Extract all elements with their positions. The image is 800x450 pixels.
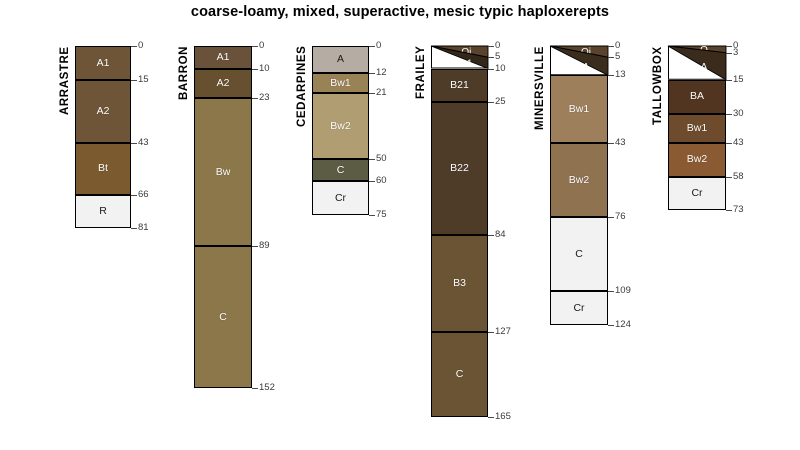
depth-label: 23 <box>259 93 270 103</box>
thin-horizon-wedges: OiA <box>550 46 608 75</box>
thin-horizon-wedges: OA <box>668 46 726 80</box>
depth-tick <box>252 388 258 389</box>
horizon-ba[interactable]: BA <box>668 80 726 114</box>
horizon-label: Bw2 <box>330 121 350 132</box>
thin-horizon-wedges: OiA1 <box>431 46 488 69</box>
depth-tick <box>726 114 732 115</box>
depth-tick <box>608 57 614 58</box>
depth-tick <box>488 332 494 333</box>
horizon-bw1[interactable]: Bw1 <box>668 114 726 143</box>
profile-name-label: TALLOWBOX <box>652 46 664 246</box>
depth-label: 13 <box>615 70 626 80</box>
depth-label: 12 <box>376 68 387 78</box>
depth-tick <box>608 75 614 76</box>
depth-label: 60 <box>376 176 387 186</box>
horizon-label: Bw1 <box>687 123 707 134</box>
horizon-label: C <box>575 249 583 260</box>
horizon-cr[interactable]: Cr <box>312 181 369 215</box>
horizon-label: B21 <box>450 80 469 91</box>
depth-label: 66 <box>138 190 149 200</box>
horizon-label: C <box>337 165 345 176</box>
horizon-label: A2 <box>217 78 230 89</box>
horizon-label: A <box>583 62 590 73</box>
depth-tick <box>608 46 614 47</box>
depth-tick <box>131 46 137 47</box>
horizon-label: Bw2 <box>687 154 707 165</box>
horizon-label: Bw1 <box>330 78 350 89</box>
horizon-a2[interactable]: A2 <box>75 80 131 143</box>
horizon-label: Cr <box>573 303 584 314</box>
depth-label: 30 <box>733 109 744 119</box>
depth-tick <box>369 215 375 216</box>
horizon-bw1[interactable]: Bw1 <box>550 75 608 143</box>
profile-column: B21B22B3COiA1 <box>431 46 488 417</box>
profile-column: BABw1Bw2CrOA <box>668 46 726 210</box>
horizon-label: B3 <box>453 278 466 289</box>
depth-tick <box>131 143 137 144</box>
horizon-label: Bw1 <box>569 104 589 115</box>
depth-label: 165 <box>495 412 511 422</box>
depth-label: 3 <box>733 48 738 58</box>
horizon-a1[interactable]: A1 <box>194 46 252 69</box>
profile-name-label: CEDARPINES <box>296 46 308 241</box>
depth-label: 0 <box>615 41 620 51</box>
horizon-label: Bt <box>98 163 108 174</box>
depth-tick <box>369 46 375 47</box>
depth-label: 73 <box>733 205 744 215</box>
horizon-a2[interactable]: A2 <box>194 69 252 98</box>
depth-tick <box>726 53 732 54</box>
depth-tick <box>131 228 137 229</box>
horizon-label: B22 <box>450 163 469 174</box>
horizon-label: A <box>337 54 344 65</box>
figure-title: coarse-loamy, mixed, superactive, mesic … <box>0 4 800 20</box>
depth-label: 0 <box>495 41 500 51</box>
horizon-bw2[interactable]: Bw2 <box>312 93 369 158</box>
depth-label: 15 <box>733 75 744 85</box>
depth-label: 109 <box>615 286 631 296</box>
depth-tick <box>131 195 137 196</box>
depth-tick <box>726 80 732 81</box>
horizon-bw[interactable]: Bw <box>194 98 252 247</box>
horizon-a[interactable]: A <box>312 46 369 73</box>
depth-tick <box>488 235 494 236</box>
depth-tick <box>488 102 494 103</box>
depth-label: 81 <box>138 223 149 233</box>
horizon-label: BA <box>690 91 704 102</box>
horizon-b22[interactable]: B22 <box>431 102 488 235</box>
horizon-bw2[interactable]: Bw2 <box>550 143 608 217</box>
depth-label: 124 <box>615 320 631 330</box>
depth-label: 43 <box>615 138 626 148</box>
depth-tick <box>369 181 375 182</box>
depth-tick <box>488 57 494 58</box>
soil-profile-figure: coarse-loamy, mixed, superactive, mesic … <box>0 0 800 450</box>
horizon-label: R <box>99 206 107 217</box>
depth-label: 0 <box>376 41 381 51</box>
depth-label: 10 <box>259 64 270 74</box>
depth-tick <box>369 73 375 74</box>
depth-tick <box>369 159 375 160</box>
horizon-c[interactable]: C <box>431 332 488 418</box>
depth-tick <box>488 69 494 70</box>
horizon-label: A1 <box>460 58 473 69</box>
profile-name-label: ARRASTRE <box>59 46 71 241</box>
depth-tick <box>608 143 614 144</box>
horizon-c[interactable]: C <box>312 159 369 182</box>
depth-label: 0 <box>259 41 264 51</box>
depth-tick <box>608 325 614 326</box>
depth-tick <box>369 93 375 94</box>
horizon-c[interactable]: C <box>550 217 608 291</box>
horizon-bw1[interactable]: Bw1 <box>312 73 369 93</box>
depth-label: 15 <box>138 75 149 85</box>
horizon-label: A2 <box>97 106 110 117</box>
profile-column: A1A2BwC <box>194 46 252 388</box>
depth-label: 89 <box>259 241 270 251</box>
depth-label: 21 <box>376 88 387 98</box>
depth-tick <box>726 210 732 211</box>
horizon-bt[interactable]: Bt <box>75 143 131 195</box>
depth-tick <box>252 98 258 99</box>
depth-label: 43 <box>138 138 149 148</box>
profile-name-label: MINERSVILLE <box>534 46 546 261</box>
horizon-label: A1 <box>217 52 230 63</box>
depth-label: 5 <box>495 52 500 62</box>
depth-tick <box>608 217 614 218</box>
horizon-a1[interactable]: A1 <box>75 46 131 80</box>
depth-label: 152 <box>259 383 275 393</box>
depth-tick <box>252 46 258 47</box>
depth-label: 43 <box>733 138 744 148</box>
horizon-b21[interactable]: B21 <box>431 69 488 103</box>
depth-tick <box>131 80 137 81</box>
horizon-cr[interactable]: Cr <box>550 291 608 325</box>
profile-column: ABw1Bw2CCr <box>312 46 369 215</box>
depth-label: 127 <box>495 327 511 337</box>
horizon-label: Bw <box>216 167 231 178</box>
depth-label: 84 <box>495 230 506 240</box>
depth-tick <box>726 46 732 47</box>
horizon-cr[interactable]: Cr <box>668 177 726 211</box>
horizon-label: Bw2 <box>569 175 589 186</box>
depth-label: 50 <box>376 154 387 164</box>
profile-name-label: BARRON <box>178 46 190 256</box>
depth-label: 58 <box>733 172 744 182</box>
depth-label: 0 <box>138 41 143 51</box>
depth-label: 75 <box>376 210 387 220</box>
depth-tick <box>726 143 732 144</box>
horizon-c[interactable]: C <box>194 246 252 388</box>
depth-label: 5 <box>615 52 620 62</box>
depth-tick <box>252 69 258 70</box>
horizon-b3[interactable]: B3 <box>431 235 488 332</box>
profile-name-label: FRAILEY <box>415 46 427 261</box>
horizon-label: Cr <box>335 193 346 204</box>
depth-tick <box>488 46 494 47</box>
profile-column: Bw1Bw2CCrOiA <box>550 46 608 325</box>
depth-label: 25 <box>495 97 506 107</box>
profile-column: A1A2BtR <box>75 46 131 228</box>
horizon-bw2[interactable]: Bw2 <box>668 143 726 177</box>
depth-label: 76 <box>615 212 626 222</box>
depth-tick <box>608 291 614 292</box>
horizon-label: A <box>701 62 708 73</box>
depth-label: 10 <box>495 64 506 74</box>
depth-tick <box>726 177 732 178</box>
horizon-label: A1 <box>97 58 110 69</box>
depth-tick <box>488 417 494 418</box>
horizon-label: Cr <box>691 188 702 199</box>
depth-tick <box>252 246 258 247</box>
horizon-r[interactable]: R <box>75 195 131 229</box>
horizon-label: C <box>456 369 464 380</box>
horizon-label: C <box>219 312 227 323</box>
